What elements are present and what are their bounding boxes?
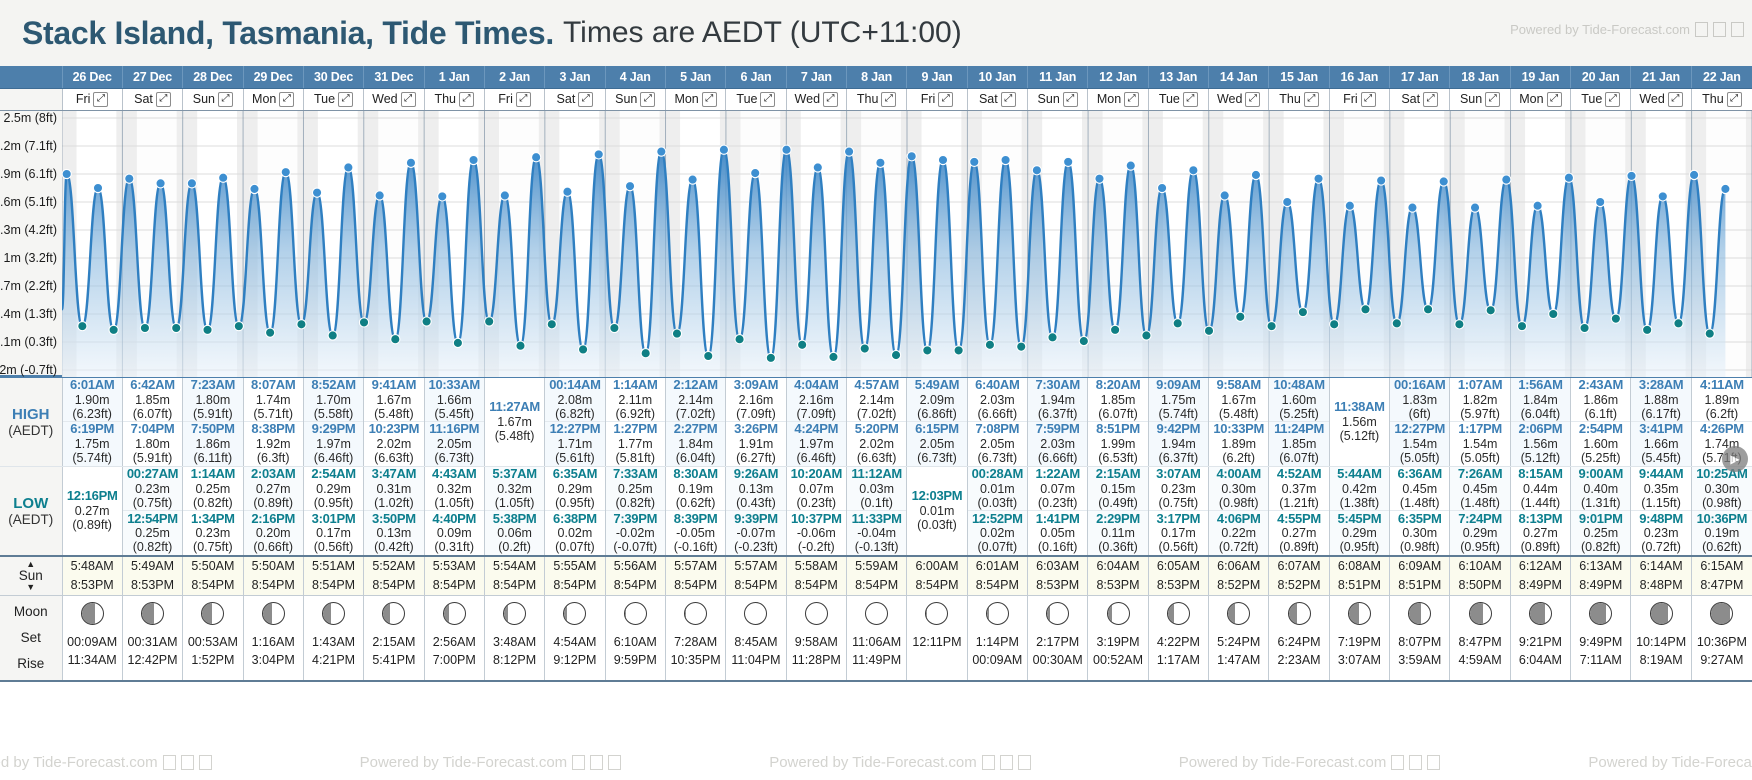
tide-time: 9:58AM: [1216, 378, 1260, 393]
high-tide-point: [1721, 184, 1730, 193]
date-header-cell[interactable]: 30 Dec: [303, 66, 363, 88]
tide-table: 26 Dec27 Dec28 Dec29 Dec30 Dec31 Dec1 Ja…: [0, 66, 1752, 682]
date-header-cell[interactable]: 14 Jan: [1209, 66, 1269, 88]
tide-height-ft: (0.66ft): [253, 540, 293, 554]
tide-slot: 2:06PM1.56m(5.12ft): [1511, 421, 1570, 466]
moonrise-time: 8:19AM: [1631, 651, 1690, 670]
footer-watermark-text: Powered by Tide-Forecast.com: [769, 754, 977, 771]
weekday-label: Tue: [314, 92, 335, 106]
chart-row: 2.5m (8ft)2.2m (7.1ft)1.9m (6.1ft)1.6m (…: [0, 110, 1752, 376]
tide-slot: 4:00AM0.30m(0.98ft): [1209, 467, 1268, 511]
low-tide-point: [891, 350, 900, 359]
sunrise-time: 5:52AM: [364, 557, 423, 576]
tide-height-m: 0.27m: [1282, 526, 1317, 540]
low-tide-point: [985, 340, 994, 349]
moonrise-time: 1:17AM: [1149, 651, 1208, 670]
date-header-cell[interactable]: 1 Jan: [424, 66, 484, 88]
moon-cell: 7:28AM10:35PM: [665, 595, 725, 681]
tide-height-ft: (-0.16ft): [674, 540, 718, 554]
date-header-cell[interactable]: 11 Jan: [1028, 66, 1088, 88]
date-header-cell[interactable]: 18 Jan: [1450, 66, 1510, 88]
tide-slot: 12:27PM1.71m(5.61ft): [545, 421, 604, 466]
expand-day-icon[interactable]: ⤢: [578, 92, 593, 107]
expand-day-icon[interactable]: ⤢: [1361, 92, 1376, 107]
high-tide-point: [1157, 183, 1166, 192]
tide-height-ft: (-0.13ft): [855, 540, 899, 554]
expand-day-icon[interactable]: ⤢: [338, 92, 353, 107]
tide-time: 4:40PM: [432, 512, 476, 527]
tide-height-m: 1.74m: [256, 393, 291, 407]
expand-day-icon[interactable]: ⤢: [1727, 92, 1742, 107]
tide-height-ft: (1.31ft): [1581, 496, 1621, 510]
tide-time: 9:29PM: [312, 422, 356, 437]
date-header-cell[interactable]: 8 Jan: [846, 66, 906, 88]
tide-height-ft: (0.49ft): [1098, 496, 1138, 510]
tide-slot: 7:50PM1.86m(6.11ft): [183, 421, 242, 466]
tide-height-ft: (6.23ft): [72, 407, 112, 421]
high-tide-cell: 4:57AM2.14m(7.02ft)5:20PM2.02m(6.63ft): [846, 376, 906, 466]
tide-slot: 8:13PM0.27m(0.89ft): [1511, 510, 1570, 555]
tide-time: 11:33PM: [852, 512, 902, 527]
tide-height-ft: (5.05ft): [1460, 451, 1500, 465]
low-tide-point: [234, 321, 243, 330]
tide-height-ft: (0.89ft): [72, 518, 112, 532]
weekday-header-cell: Tue⤢: [726, 88, 786, 110]
footer-icon-2: [1000, 755, 1013, 770]
high-tide-point: [625, 181, 634, 190]
tide-time: 2:43AM: [1579, 378, 1623, 393]
moonrise-time: 3:04PM: [244, 651, 303, 670]
date-header-cell[interactable]: 6 Jan: [726, 66, 786, 88]
moon-label-text: Moon: [0, 599, 62, 625]
low-tide-point: [860, 343, 869, 352]
tide-slot: 5:49AM2.09m(6.86ft): [907, 378, 966, 422]
sun-cell: 6:15AM8:47PM: [1691, 556, 1752, 595]
timezone-subtitle: Times are AEDT (UTC+11:00): [563, 16, 962, 50]
moon-cell: 6:24PM2:23AM: [1269, 595, 1329, 681]
tide-height-ft: (0.2ft): [498, 540, 531, 554]
tide-height-ft: (5.25ft): [1279, 407, 1319, 421]
tide-height-ft: (6.92ft): [615, 407, 655, 421]
tide-slot: 6:38PM0.02m(0.07ft): [545, 510, 604, 555]
tide-height-m: 0.45m: [1463, 482, 1498, 496]
weekday-label: Sun: [1460, 92, 1482, 106]
tide-height-m: 0.30m: [1705, 482, 1740, 496]
expand-day-icon[interactable]: ⤢: [1423, 92, 1438, 107]
moon-cell: 1:16AM3:04PM: [243, 595, 303, 681]
moon-cell: 9:58AM11:28PM: [786, 595, 846, 681]
header-watermark: Powered by Tide-Forecast.com: [1510, 22, 1744, 37]
low-tide-point: [328, 330, 337, 339]
moon-phase-icon: [563, 602, 586, 625]
expand-day-icon[interactable]: ⤢: [1183, 92, 1198, 107]
footer-watermark: Powered by Tide-Forecast.com: [1588, 754, 1752, 771]
tide-height-ft: (5.48ft): [1219, 407, 1259, 421]
moon-phase-icon: [1408, 602, 1431, 625]
tide-slot: 10:36PM0.19m(0.62ft): [1692, 510, 1752, 555]
moon-phase-icon: [382, 602, 405, 625]
date-header-cell[interactable]: 13 Jan: [1148, 66, 1208, 88]
high-tide-point: [93, 183, 102, 192]
high-tide-point: [187, 178, 196, 187]
sunset-time: 8:54PM: [847, 576, 906, 595]
moon-cell: 4:54AM9:12PM: [545, 595, 605, 681]
tide-time: 6:36AM: [1398, 467, 1442, 482]
tide-slot: 4:11AM1.89m(6.2ft): [1692, 378, 1752, 422]
tide-slot: 12:54PM0.25m(0.82ft): [123, 510, 182, 555]
date-header-cell[interactable]: 27 Dec: [122, 66, 182, 88]
high-tide-cell: 9:58AM1.67m(5.48ft)10:33PM1.89m(6.2ft): [1209, 376, 1269, 466]
low-tide-row: LOW (AEDT) 12:16PM0.27m(0.89ft)00:27AM0.…: [0, 466, 1752, 556]
tide-slot: 4:57AM2.14m(7.02ft): [847, 378, 906, 422]
tide-time: 8:30AM: [673, 467, 717, 482]
tide-height-ft: (0.89ft): [1521, 540, 1561, 554]
expand-day-icon[interactable]: ⤢: [156, 92, 171, 107]
date-header-cell[interactable]: 29 Dec: [243, 66, 303, 88]
tide-slot: 6:40AM2.03m(6.66ft): [968, 378, 1027, 422]
tide-height-m: -0.06m: [797, 526, 836, 540]
tide-time: 2:06PM: [1519, 422, 1563, 437]
tide-time: 7:26AM: [1458, 467, 1502, 482]
tide-height-ft: (1.05ft): [434, 496, 474, 510]
sun-cell: 6:14AM8:48PM: [1631, 556, 1691, 595]
moonrise-time: 12:42PM: [123, 651, 182, 670]
date-header-cell[interactable]: 3 Jan: [545, 66, 605, 88]
moon-phase-icon: [1469, 602, 1492, 625]
low-tide-point: [78, 321, 87, 330]
expand-day-icon[interactable]: ⤢: [1063, 92, 1078, 107]
expand-day-icon[interactable]: ⤢: [1001, 92, 1016, 107]
low-tide-cell: 8:30AM0.19m(0.62ft)8:39PM-0.05m(-0.16ft): [665, 466, 725, 556]
weekday-label: Sat: [979, 92, 998, 106]
expand-day-icon[interactable]: ⤢: [516, 92, 531, 107]
expand-day-icon[interactable]: ⤢: [938, 92, 953, 107]
tide-time: 6:35AM: [553, 467, 597, 482]
tide-height-m: 1.88m: [1644, 393, 1679, 407]
moon-phase-icon: [1107, 602, 1130, 625]
sun-cell: 5:55AM8:54PM: [545, 556, 605, 595]
high-tide-point: [594, 149, 603, 158]
tide-height-ft: (6.17ft): [1641, 407, 1681, 421]
moon-cell: 8:45AM11:04PM: [726, 595, 786, 681]
tide-height-m: 2.05m: [920, 437, 955, 451]
tide-chart[interactable]: [62, 110, 1752, 376]
weekday-label: Thu: [1702, 92, 1724, 106]
footer-icon-3: [1427, 755, 1440, 770]
moon-cell: 8:47PM4:59AM: [1450, 595, 1510, 681]
sun-label: ▲ Sun ▼: [0, 556, 62, 595]
low-tide-point: [1674, 318, 1683, 327]
low-tide-point: [954, 345, 963, 354]
tide-height-ft: (6.86ft): [917, 407, 957, 421]
weekday-header-cell: Wed⤢: [1209, 88, 1269, 110]
weekday-label: Wed: [1217, 92, 1242, 106]
tide-slot: 8:30AM0.19m(0.62ft): [666, 467, 725, 511]
high-tide-cell: 11:27AM1.67m(5.48ft): [484, 376, 544, 466]
tide-time: 6:38PM: [553, 512, 597, 527]
expand-day-icon[interactable]: ⤢: [93, 92, 108, 107]
weekday-label: Fri: [1343, 92, 1358, 106]
tide-slot: 00:14AM2.08m(6.82ft): [545, 378, 604, 422]
tide-slot: 3:28AM1.88m(6.17ft): [1631, 378, 1690, 422]
expand-day-icon[interactable]: ⤢: [1605, 92, 1620, 107]
tide-height-ft: (-0.07ft): [613, 540, 657, 554]
tide-slot: 4:24PM1.97m(6.46ft): [787, 421, 846, 466]
date-header-cell[interactable]: 7 Jan: [786, 66, 846, 88]
date-header-cell[interactable]: 19 Jan: [1510, 66, 1570, 88]
date-header-cell[interactable]: 4 Jan: [605, 66, 665, 88]
tide-slot: 9:44AM0.35m(1.15ft): [1631, 467, 1690, 511]
weekday-header-cell: Wed⤢: [364, 88, 424, 110]
sun-cell: 6:09AM8:51PM: [1390, 556, 1450, 595]
low-tide-cell: 10:25AM0.30m(0.98ft)10:36PM0.19m(0.62ft): [1691, 466, 1752, 556]
tide-height-ft: (6.66ft): [978, 407, 1018, 421]
low-tide-point: [266, 328, 275, 337]
date-header-cell[interactable]: 15 Jan: [1269, 66, 1329, 88]
low-tide-point: [1330, 319, 1339, 328]
expand-day-icon[interactable]: ⤢: [760, 92, 775, 107]
expand-day-icon[interactable]: ⤢: [401, 92, 416, 107]
tide-slot: 10:37PM-0.06m(-0.2ft): [787, 510, 846, 555]
moon-phase-icon: [925, 602, 948, 625]
sun-cell: 5:56AM8:54PM: [605, 556, 665, 595]
moonset-time: 10:36PM: [1692, 633, 1752, 652]
tide-height-m: 0.02m: [980, 526, 1015, 540]
tide-slot: 2:29PM0.11m(0.36ft): [1088, 510, 1147, 555]
tide-slot: 5:44AM0.42m(1.38ft): [1330, 467, 1389, 511]
date-header-cell[interactable]: 16 Jan: [1329, 66, 1389, 88]
tide-height-m: 1.94m: [1161, 437, 1196, 451]
tide-height-ft: (7.09ft): [796, 407, 836, 421]
tide-slot: 1:41PM0.05m(0.16ft): [1028, 510, 1087, 555]
high-tide-cell: 2:12AM2.14m(7.02ft)2:27PM1.84m(6.04ft): [665, 376, 725, 466]
tide-height-ft: (0.98ft): [1400, 540, 1440, 554]
moon-label: Moon Set Rise: [0, 595, 62, 681]
moon-cell: 00:09AM11:34AM: [62, 595, 122, 681]
date-header-cell[interactable]: 12 Jan: [1088, 66, 1148, 88]
date-header-cell[interactable]: 5 Jan: [665, 66, 725, 88]
weekday-label: Wed: [1639, 92, 1664, 106]
tide-height-ft: (0.98ft): [1219, 496, 1259, 510]
moon-phase-icon: [443, 602, 466, 625]
moon-cell: 6:10AM9:59PM: [605, 595, 665, 681]
high-tide-point: [1377, 175, 1386, 184]
expand-day-icon[interactable]: ⤢: [459, 92, 474, 107]
tide-height-ft: (0.23ft): [1038, 496, 1078, 510]
sun-cell: 5:49AM8:53PM: [122, 556, 182, 595]
tide-height-m: 1.66m: [437, 393, 472, 407]
tide-slot: 1:07AM1.82m(5.97ft): [1450, 378, 1509, 422]
y-axis-tick-label: 0.1m (0.3ft): [0, 335, 57, 349]
tide-height-ft: (0.07ft): [555, 540, 595, 554]
low-tide-point: [766, 353, 775, 362]
weekday-header-cell: Sat⤢: [1390, 88, 1450, 110]
tide-slot: 7:23AM1.80m(5.91ft): [183, 378, 242, 422]
date-header-cell[interactable]: 20 Jan: [1571, 66, 1631, 88]
sun-label-text: Sun: [19, 568, 43, 583]
tide-height-m: -0.04m: [857, 526, 896, 540]
tide-height-ft: (6.73ft): [434, 451, 474, 465]
tide-slot: 3:17PM0.17m(0.56ft): [1149, 510, 1208, 555]
tide-height-m: 0.07m: [1040, 482, 1075, 496]
tide-slot: 6:01AM1.90m(6.23ft): [63, 378, 122, 422]
moonrise-time: 2:23AM: [1269, 651, 1328, 670]
expand-day-icon[interactable]: ⤢: [1547, 92, 1562, 107]
tide-time: 3:07AM: [1156, 467, 1200, 482]
expand-day-icon[interactable]: ⤢: [279, 92, 294, 107]
y-axis-tick-label: 2.5m (8ft): [4, 111, 58, 125]
tide-height-ft: (6.27ft): [736, 451, 776, 465]
low-tide-point: [485, 316, 494, 325]
weekday-label: Sat: [1401, 92, 1420, 106]
weekday-header-cell: Thu⤢: [1269, 88, 1329, 110]
low-tide-cell: 4:43AM0.32m(1.05ft)4:40PM0.09m(0.31ft): [424, 466, 484, 556]
high-tide-cell: 5:49AM2.09m(6.86ft)6:15PM2.05m(6.73ft): [907, 376, 967, 466]
tide-slot: 3:47AM0.31m(1.02ft): [364, 467, 423, 511]
high-tide-cell: 4:04AM2.16m(7.09ft)4:24PM1.97m(6.46ft): [786, 376, 846, 466]
watermark-icon-3: [1731, 22, 1744, 37]
weekday-header-row: Fri⤢Sat⤢Sun⤢Mon⤢Tue⤢Wed⤢Thu⤢Fri⤢Sat⤢Sun⤢…: [0, 88, 1752, 110]
date-header-row: 26 Dec27 Dec28 Dec29 Dec30 Dec31 Dec1 Ja…: [0, 66, 1752, 88]
expand-day-icon[interactable]: ⤢: [640, 92, 655, 107]
date-header-cell[interactable]: 10 Jan: [967, 66, 1027, 88]
tide-time: 12:54PM: [127, 512, 178, 527]
sun-cell: 6:05AM8:53PM: [1148, 556, 1208, 595]
footer-watermark: Powered by Tide-Forecast.com: [769, 754, 1031, 771]
tide-height-m: 1.83m: [1402, 393, 1437, 407]
tide-height-m: 0.01m: [980, 482, 1015, 496]
expand-day-icon[interactable]: ⤢: [1485, 92, 1500, 107]
tide-slot: 7:30AM1.94m(6.37ft): [1028, 378, 1087, 422]
footer-icon-3: [608, 755, 621, 770]
tide-slot: 10:25AM0.30m(0.98ft): [1692, 467, 1752, 511]
expand-day-icon[interactable]: ⤢: [702, 92, 717, 107]
weekday-header-cell: Fri⤢: [1329, 88, 1389, 110]
page-header: Stack Island, Tasmania, Tide Times. Time…: [0, 0, 1752, 66]
sun-row: ▲ Sun ▼ 5:48AM8:53PM5:49AM8:53PM5:50AM8:…: [0, 556, 1752, 595]
moonset-time: 11:06AM: [847, 633, 906, 652]
tide-height-ft: (5.97ft): [1460, 407, 1500, 421]
tide-height-ft: (0.75ft): [133, 496, 173, 510]
tide-height-m: 2.08m: [558, 393, 593, 407]
moonset-time: 4:54AM: [545, 633, 604, 652]
expand-day-icon[interactable]: ⤢: [218, 92, 233, 107]
high-tide-point: [438, 191, 447, 200]
tide-slot: 2:15AM0.15m(0.49ft): [1088, 467, 1147, 511]
tide-height-m: 1.86m: [1583, 393, 1618, 407]
high-tide-cell: 6:01AM1.90m(6.23ft)6:19PM1.75m(5.74ft): [62, 376, 122, 466]
low-tide-cell: 00:28AM0.01m(0.03ft)12:52PM0.02m(0.07ft): [967, 466, 1027, 556]
low-tide-point: [1236, 312, 1245, 321]
date-header-cell[interactable]: 26 Dec: [62, 66, 122, 88]
footer-watermark-text: Powered by Tide-Forecast.com: [0, 754, 158, 771]
date-header-cell[interactable]: 28 Dec: [183, 66, 243, 88]
tide-height-m: 2.09m: [920, 393, 955, 407]
expand-day-icon[interactable]: ⤢: [1304, 92, 1319, 107]
low-tide-cell: 7:26AM0.45m(1.48ft)7:24PM0.29m(0.95ft): [1450, 466, 1510, 556]
sunset-time: 8:54PM: [726, 576, 785, 595]
low-tide-cell: 2:03AM0.27m(0.89ft)2:16PM0.20m(0.66ft): [243, 466, 303, 556]
tide-time: 1:22AM: [1035, 467, 1079, 482]
weekday-label: Thu: [1279, 92, 1301, 106]
tide-slot: 8:38PM1.92m(6.3ft): [244, 421, 303, 466]
scroll-right-button[interactable]: ▶: [1722, 446, 1748, 472]
header-watermark-text: Powered by Tide-Forecast.com: [1510, 22, 1690, 37]
tide-time: 2:16PM: [251, 512, 295, 527]
high-tide-point: [1690, 170, 1699, 179]
tide-time: 00:16AM: [1394, 378, 1445, 393]
sun-cell: 5:57AM8:54PM: [665, 556, 725, 595]
expand-day-icon[interactable]: ⤢: [1245, 92, 1260, 107]
moon-rise-label: Rise: [0, 651, 62, 677]
tide-height-ft: (5.48ft): [495, 429, 535, 443]
moonset-time: 6:24PM: [1269, 633, 1328, 652]
tide-height-m: 2.16m: [739, 393, 774, 407]
expand-day-icon[interactable]: ⤢: [1124, 92, 1139, 107]
date-header-cell[interactable]: 9 Jan: [907, 66, 967, 88]
tide-slot: 1:22AM0.07m(0.23ft): [1028, 467, 1087, 511]
tide-slot: 6:35AM0.29m(0.95ft): [545, 467, 604, 511]
low-tide-point: [172, 323, 181, 332]
low-tide-point: [610, 323, 619, 332]
high-tide-point: [62, 169, 71, 178]
expand-day-icon[interactable]: ⤢: [823, 92, 838, 107]
moonrise-time: 00:30AM: [1028, 651, 1087, 670]
tide-slot: 9:01PM0.25m(0.82ft): [1571, 510, 1630, 555]
moonset-time: 3:19PM: [1088, 633, 1147, 652]
footer-icon-2: [590, 755, 603, 770]
date-header-cell[interactable]: 21 Jan: [1631, 66, 1691, 88]
sunset-time: 8:54PM: [244, 576, 303, 595]
tide-slot: 4:55PM0.27m(0.89ft): [1269, 510, 1328, 555]
moonrise-time: 7:00PM: [425, 651, 484, 670]
moon-phase-icon: [322, 602, 345, 625]
tide-height-ft: (6.63ft): [374, 451, 414, 465]
tide-slot: 3:50PM0.13m(0.42ft): [364, 510, 423, 555]
tide-slot: 11:38AM1.56m(5.12ft): [1330, 378, 1389, 466]
high-tide-point: [500, 190, 509, 199]
moon-set-label: Set: [0, 625, 62, 651]
tide-time: 4:43AM: [432, 467, 476, 482]
tide-height-ft: (0.72ft): [1219, 540, 1259, 554]
tide-height-m: 1.67m: [377, 393, 412, 407]
date-header-cell[interactable]: 17 Jan: [1390, 66, 1450, 88]
weekday-label: Mon: [1519, 92, 1543, 106]
tide-slot: 11:33PM-0.04m(-0.13ft): [847, 510, 906, 555]
date-header-cell[interactable]: 2 Jan: [484, 66, 544, 88]
tide-time: 8:39PM: [674, 512, 718, 527]
tide-time: 10:23PM: [369, 422, 420, 437]
footer-icon-3: [1018, 755, 1031, 770]
moonrise-time: 11:04PM: [726, 651, 785, 670]
tide-height-m: 0.32m: [437, 482, 472, 496]
date-header-cell[interactable]: 31 Dec: [364, 66, 424, 88]
expand-day-icon[interactable]: ⤢: [1668, 92, 1683, 107]
tide-slot: 8:39PM-0.05m(-0.16ft): [666, 510, 725, 555]
date-header-cell[interactable]: 22 Jan: [1691, 66, 1752, 88]
moonrise-time: 1:47AM: [1209, 651, 1268, 670]
tide-slot: 5:20PM2.02m(6.63ft): [847, 421, 906, 466]
low-tide-cell: 11:12AM0.03m(0.1ft)11:33PM-0.04m(-0.13ft…: [846, 466, 906, 556]
tide-time: 10:20AM: [791, 467, 842, 482]
tide-time: 4:24PM: [794, 422, 838, 437]
low-tide-cell: 10:20AM0.07m(0.23ft)10:37PM-0.06m(-0.2ft…: [786, 466, 846, 556]
tide-height-ft: (5.45ft): [1641, 451, 1681, 465]
tide-height-ft: (7.02ft): [857, 407, 897, 421]
expand-day-icon[interactable]: ⤢: [881, 92, 896, 107]
tide-height-m: 2.02m: [859, 437, 894, 451]
sunset-time: 8:48PM: [1631, 576, 1690, 595]
